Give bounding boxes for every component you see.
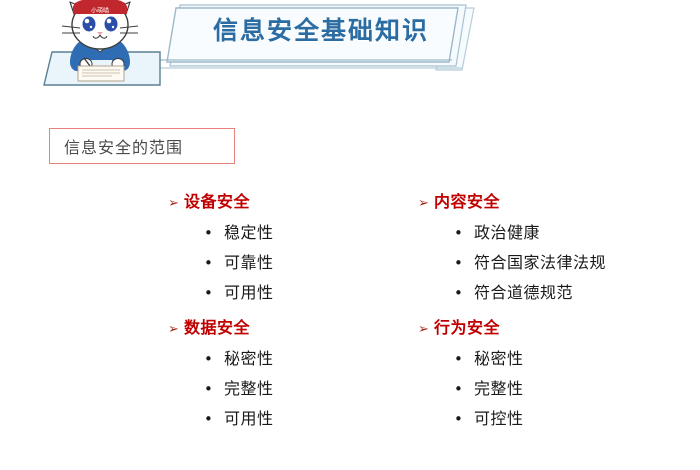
arrow-bullet-icon: ➢ xyxy=(168,190,184,218)
list-item[interactable]: •可控性 xyxy=(418,404,698,434)
group-heading-text: 设备安全 xyxy=(184,188,250,216)
list-item-label: 稳定性 xyxy=(224,218,274,248)
cat-eye-right-highlight xyxy=(107,19,112,24)
list-item[interactable]: •符合道德规范 xyxy=(418,278,698,308)
list-item[interactable]: •完整性 xyxy=(168,374,448,404)
group-block: ➢内容安全•政治健康•符合国家法律法规•符合道德规范 xyxy=(418,188,698,308)
group-heading-text: 数据安全 xyxy=(184,314,250,342)
dot-bullet-icon: • xyxy=(204,248,224,278)
list-item-label: 符合道德规范 xyxy=(474,278,573,308)
arrow-bullet-icon: ➢ xyxy=(168,316,184,344)
list-item-label: 秘密性 xyxy=(474,344,524,374)
dot-bullet-icon: • xyxy=(454,404,474,434)
list-item-label: 符合国家法律法规 xyxy=(474,248,606,278)
list-item[interactable]: •秘密性 xyxy=(168,344,448,374)
group-heading[interactable]: ➢数据安全 xyxy=(168,314,448,344)
group-heading[interactable]: ➢设备安全 xyxy=(168,188,448,218)
arrow-bullet-icon: ➢ xyxy=(418,190,434,218)
list-item[interactable]: •政治健康 xyxy=(418,218,698,248)
scope-label-text: 信息安全的范围 xyxy=(50,134,183,158)
dot-bullet-icon: • xyxy=(454,344,474,374)
group-block: ➢设备安全•稳定性•可靠性•可用性 xyxy=(168,188,448,308)
list-item[interactable]: •完整性 xyxy=(418,374,698,404)
list-item[interactable]: •符合国家法律法规 xyxy=(418,248,698,278)
list-item-label: 完整性 xyxy=(224,374,274,404)
dot-bullet-icon: • xyxy=(454,374,474,404)
cat-headband-text: 小萌喵 xyxy=(91,7,109,15)
column-left: ➢设备安全•稳定性•可靠性•可用性➢数据安全•秘密性•完整性•可用性 xyxy=(168,188,448,440)
list-item-label: 可控性 xyxy=(474,404,524,434)
list-item[interactable]: •可用性 xyxy=(168,278,448,308)
dot-bullet-icon: • xyxy=(204,218,224,248)
cat-eye-right-highlight2 xyxy=(112,26,114,28)
column-right: ➢内容安全•政治健康•符合国家法律法规•符合道德规范➢行为安全•秘密性•完整性•… xyxy=(418,188,698,440)
group-heading-text: 行为安全 xyxy=(434,314,500,342)
header-banner: 小萌喵 信息安全基础知识 xyxy=(0,0,700,95)
cat-eye-right xyxy=(105,17,118,32)
cat-mascot: 小萌喵 xyxy=(62,0,138,81)
scope-label-box: 信息安全的范围 xyxy=(49,128,235,164)
list-item[interactable]: •稳定性 xyxy=(168,218,448,248)
cat-eye-left-highlight2 xyxy=(90,26,92,28)
dot-bullet-icon: • xyxy=(204,404,224,434)
list-item-label: 秘密性 xyxy=(224,344,274,374)
list-item[interactable]: •可用性 xyxy=(168,404,448,434)
list-item[interactable]: •秘密性 xyxy=(418,344,698,374)
list-item[interactable]: •可靠性 xyxy=(168,248,448,278)
group-block: ➢数据安全•秘密性•完整性•可用性 xyxy=(168,314,448,434)
list-item-label: 可用性 xyxy=(224,278,274,308)
group-heading[interactable]: ➢内容安全 xyxy=(418,188,698,218)
cat-eye-left xyxy=(83,17,96,32)
list-item-label: 政治健康 xyxy=(474,218,540,248)
group-heading[interactable]: ➢行为安全 xyxy=(418,314,698,344)
cat-eye-left-highlight xyxy=(85,19,90,24)
content-columns: ➢设备安全•稳定性•可靠性•可用性➢数据安全•秘密性•完整性•可用性 ➢内容安全… xyxy=(0,188,700,470)
dot-bullet-icon: • xyxy=(454,218,474,248)
dot-bullet-icon: • xyxy=(454,248,474,278)
list-item-label: 可靠性 xyxy=(224,248,274,278)
list-item-label: 完整性 xyxy=(474,374,524,404)
dot-bullet-icon: • xyxy=(204,278,224,308)
dot-bullet-icon: • xyxy=(204,344,224,374)
group-heading-text: 内容安全 xyxy=(434,188,500,216)
list-item-label: 可用性 xyxy=(224,404,274,434)
group-block: ➢行为安全•秘密性•完整性•可控性 xyxy=(418,314,698,434)
page-title: 信息安全基础知识 xyxy=(196,14,446,48)
dot-bullet-icon: • xyxy=(204,374,224,404)
dot-bullet-icon: • xyxy=(454,278,474,308)
arrow-bullet-icon: ➢ xyxy=(418,316,434,344)
cat-paper xyxy=(78,66,124,81)
